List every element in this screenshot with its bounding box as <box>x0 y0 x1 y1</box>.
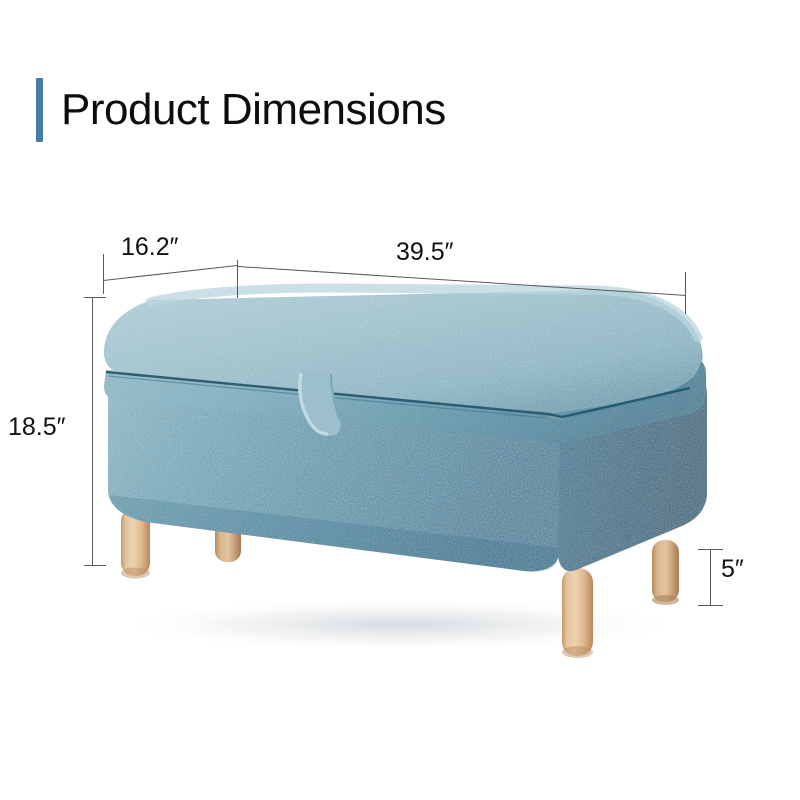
floor-shadow <box>115 599 685 651</box>
height-label: 18.5″ <box>8 413 66 442</box>
bench-illustration <box>0 0 800 800</box>
depth-tick-left <box>103 254 104 294</box>
product-dimensions-diagram: Product Dimensions <box>0 0 800 800</box>
width-label: 39.5″ <box>396 238 454 267</box>
leg-height-tick-bottom <box>698 605 723 606</box>
height-line <box>92 297 93 566</box>
leg-height-line <box>710 549 711 606</box>
height-tick-top <box>84 297 106 298</box>
leg-height-label: 5″ <box>721 555 744 584</box>
leg-front-right <box>562 568 593 658</box>
depth-label: 16.2″ <box>121 233 179 262</box>
leg-rear-right <box>652 540 679 605</box>
width-tick-right <box>685 272 686 314</box>
leg-height-tick-top <box>698 549 723 550</box>
height-tick-bottom <box>84 565 106 566</box>
